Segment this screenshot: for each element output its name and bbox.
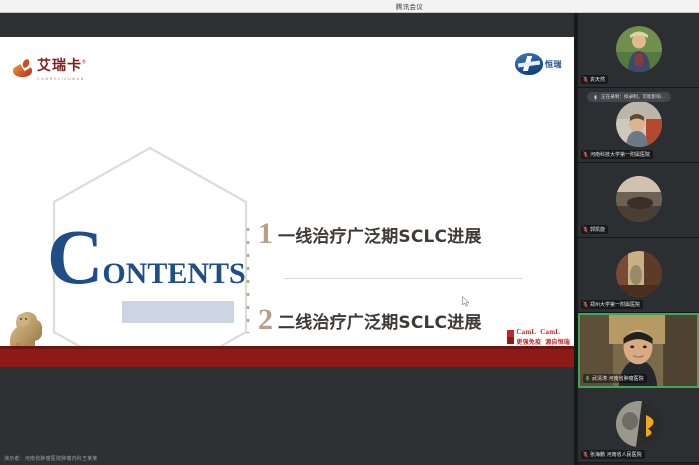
participant-filmstrip[interactable]: 袁天然 正在录制：拟录制，可能影响...: [578, 13, 699, 465]
participant-name: 郑州大学第一附属医院: [590, 301, 640, 308]
mic-active-icon: [585, 375, 590, 382]
slide-footer-band: [0, 349, 578, 367]
toast-text: 正在录制：拟录制，可能影响...: [601, 94, 665, 100]
hengrui-name-text: 恒瑞: [545, 59, 562, 70]
participant-tile-active-speaker[interactable]: 武清涛 河南省肿瘤医院: [578, 313, 699, 388]
participant-name-bar: 武清涛 河南省肿瘤医院: [583, 374, 647, 383]
participant-tile[interactable]: 正在录制：拟录制，可能影响... 河南科技大学第一附属医院: [578, 88, 699, 163]
participant-name: 袁天然: [590, 76, 605, 83]
avatar: [616, 101, 662, 147]
agenda-title-1: 一线治疗广泛期SCLC进展: [278, 222, 482, 247]
avatar: [616, 401, 662, 447]
participant-name-bar: 张海鹏 河南省人民医院: [581, 450, 645, 459]
recording-toast: 正在录制：拟录制，可能影响...: [587, 92, 671, 102]
agenda-number-2: 2: [258, 305, 273, 335]
hengrui-mark-icon: [515, 53, 543, 75]
mic-muted-icon: [583, 451, 588, 458]
bell-icon: [593, 94, 598, 100]
mic-muted-icon: [583, 226, 588, 233]
agenda-divider: [284, 278, 523, 279]
mic-muted-icon: [583, 301, 588, 308]
participant-tile[interactable]: 袁天然: [578, 13, 699, 88]
presenter-caption: 演示者：河南省肿瘤医院肿瘤内科王某某: [4, 455, 98, 462]
dotted-connector: [246, 223, 250, 333]
contents-wordmark: C ONTENTS: [47, 225, 246, 291]
window-title: 腾讯会议: [396, 1, 423, 11]
window-title-bar: 腾讯会议: [0, 0, 699, 13]
agenda-title-2: 二线治疗广泛期SCLC进展: [278, 308, 482, 333]
participant-name-bar: 郭凯旋: [581, 225, 608, 234]
product-en-2: CamL: [540, 328, 560, 336]
contents-underline-bar: [122, 301, 234, 323]
participant-name: 张海鹏 河南省人民医院: [590, 451, 642, 458]
agenda-item-2[interactable]: 2 二线治疗广泛期SCLC进展: [258, 305, 482, 335]
contents-rest: ONTENTS: [102, 257, 245, 291]
brand-subtitle: CAMRELIZUMAB: [37, 77, 86, 81]
presentation-slide[interactable]: 艾瑞卡® CAMRELIZUMAB 恒瑞 C ONTENTS 1 一线治: [0, 37, 578, 367]
lion-statue-graphic: [2, 299, 54, 351]
registered-mark: ®: [82, 60, 86, 66]
avatar: [616, 176, 662, 222]
participant-name-bar: 河南科技大学第一附属医院: [581, 150, 653, 159]
product-swatch-icon: [507, 330, 514, 344]
mic-muted-icon: [583, 76, 588, 83]
brand-logo-camrelizumab: 艾瑞卡® CAMRELIZUMAB: [12, 57, 86, 81]
product-tagline-1: 更强免疫: [516, 337, 541, 346]
participant-name: 郭凯旋: [590, 226, 605, 233]
agenda-number-1: 1: [258, 219, 273, 249]
product-en-1: CamL: [516, 328, 536, 336]
agenda-item-1[interactable]: 1 一线治疗广泛期SCLC进展: [258, 219, 482, 249]
contents-initial: C: [47, 225, 101, 289]
mic-muted-icon: [583, 151, 588, 158]
participant-name: 武清涛 河南省肿瘤医院: [592, 375, 644, 382]
shared-screen-stage[interactable]: 艾瑞卡® CAMRELIZUMAB 恒瑞 C ONTENTS 1 一线治: [0, 13, 578, 465]
brand-name-text: 艾瑞卡: [37, 58, 82, 74]
avatar: [616, 26, 662, 72]
brand-name-cn: 艾瑞卡®: [37, 57, 86, 75]
participant-name: 河南科技大学第一附属医院: [590, 151, 650, 158]
participant-name-bar: 袁天然: [581, 75, 608, 84]
product-tagline-2: 源自恒瑞: [545, 337, 570, 346]
avatar: [616, 251, 662, 297]
participant-tile[interactable]: 张海鹏 河南省人民医院: [578, 388, 699, 463]
company-logo-hengrui: 恒瑞: [515, 53, 562, 75]
swoosh-icon: [12, 59, 34, 79]
mouse-cursor-icon: [462, 296, 470, 307]
participant-tile[interactable]: 郑州大学第一附属医院: [578, 238, 699, 313]
participant-name-bar: 郑州大学第一附属医院: [581, 300, 643, 309]
participant-tile[interactable]: 郭凯旋: [578, 163, 699, 238]
product-logo-cam: CamL CamL 更强免疫 源自恒瑞: [507, 328, 570, 346]
